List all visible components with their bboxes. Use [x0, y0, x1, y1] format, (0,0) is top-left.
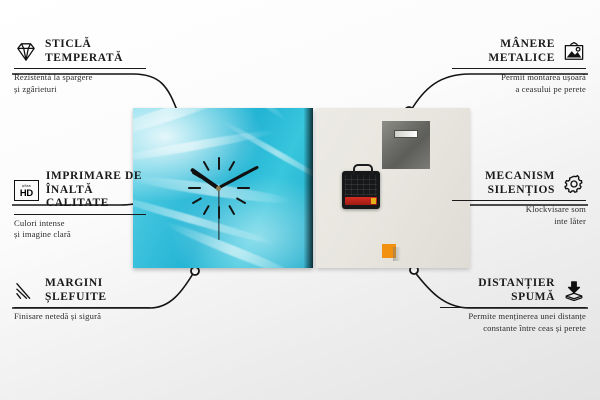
callout-subtitle-line2: și zgârieturi [14, 84, 146, 95]
callout-title-line1: MECANISM [485, 170, 555, 184]
clock-mechanism[interactable] [342, 171, 380, 209]
clock-dial [133, 108, 304, 268]
callout-title-line2: ÎNALTĂ CALITATE [46, 184, 146, 211]
clock-face-panel[interactable] [133, 108, 313, 268]
gear-icon [562, 174, 586, 194]
clock-second-hand [218, 188, 219, 240]
callout-title-line2: SPUMĂ [478, 291, 555, 305]
picture-hanger-icon [562, 42, 586, 62]
callout-subtitle-line1: Permite menținerea unei distanțe [440, 311, 586, 322]
callout-silent-mechanism[interactable]: MECANISM SILENȚIOS Klockvisare som inte … [452, 170, 586, 227]
infographic-stage: STICLĂ TEMPERATĂ Rezistentă la spargere … [0, 0, 600, 400]
callout-subtitle-line2: inte låter [452, 216, 586, 227]
callout-polished-edges[interactable]: MARGINI ȘLEFUITE Finisare netedă și sigu… [14, 277, 150, 323]
callout-title-line1: MÂNERE [488, 38, 555, 52]
callout-title-line2: METALICE [488, 52, 555, 66]
callout-title-line1: MARGINI [45, 277, 107, 291]
callout-title-line1: IMPRIMARE DE [46, 170, 146, 184]
callout-title-line2: SILENȚIOS [485, 184, 555, 198]
mechanism-housing-texture [345, 175, 377, 195]
battery [345, 197, 377, 205]
callout-subtitle-line1: Permit montarea ușoară [452, 72, 586, 83]
callout-subtitle-line1: Finisare netedă și sigură [14, 311, 150, 322]
callout-subtitle-line2: a ceasului pe perete [452, 84, 586, 95]
callout-title-line2: TEMPERATĂ [45, 52, 123, 66]
metal-hanger-plate[interactable] [382, 121, 430, 169]
callout-title-line1: STICLĂ [45, 38, 123, 52]
clock-center-pin [216, 186, 221, 191]
ultra-hd-icon: ultra HD [14, 180, 39, 201]
hanger-slot [394, 130, 418, 138]
callout-rule [14, 214, 146, 215]
callout-subtitle-line2: constante între ceas și perete [440, 323, 586, 334]
foam-spacer[interactable] [382, 244, 396, 258]
callout-rule [14, 68, 146, 69]
polished-edges-icon [14, 281, 38, 301]
callout-foam-spacer[interactable]: DISTANȚIER SPUMĂ Permite menținerea unei… [440, 277, 586, 334]
diamond-icon [14, 42, 38, 62]
callout-rule [14, 307, 150, 308]
callout-title-line1: DISTANȚIER [478, 277, 555, 291]
callout-tempered-glass[interactable]: STICLĂ TEMPERATĂ Rezistentă la spargere … [14, 38, 146, 95]
down-arrow-pad-icon [562, 281, 586, 301]
wall-clock-product [133, 108, 470, 268]
callout-subtitle-line1: Rezistentă la spargere [14, 72, 146, 83]
callout-rule [452, 200, 586, 201]
callout-title-line2: ȘLEFUITE [45, 291, 107, 305]
callout-rule [440, 307, 586, 308]
callout-subtitle-line1: Culori intense [14, 218, 146, 229]
clock-back-panel[interactable] [316, 108, 470, 268]
mechanism-hanger-loop [353, 164, 373, 175]
callout-high-quality-print[interactable]: ultra HD IMPRIMARE DE ÎNALTĂ CALITATE Cu… [14, 170, 146, 241]
callout-subtitle-line1: Klockvisare som [452, 204, 586, 215]
callout-metal-handles[interactable]: MÂNERE METALICE Permit montarea ușoară a… [452, 38, 586, 95]
callout-subtitle-line2: și imagine clară [14, 229, 146, 240]
callout-rule [452, 68, 586, 69]
ultra-hd-icon-big-text: HD [20, 188, 33, 197]
